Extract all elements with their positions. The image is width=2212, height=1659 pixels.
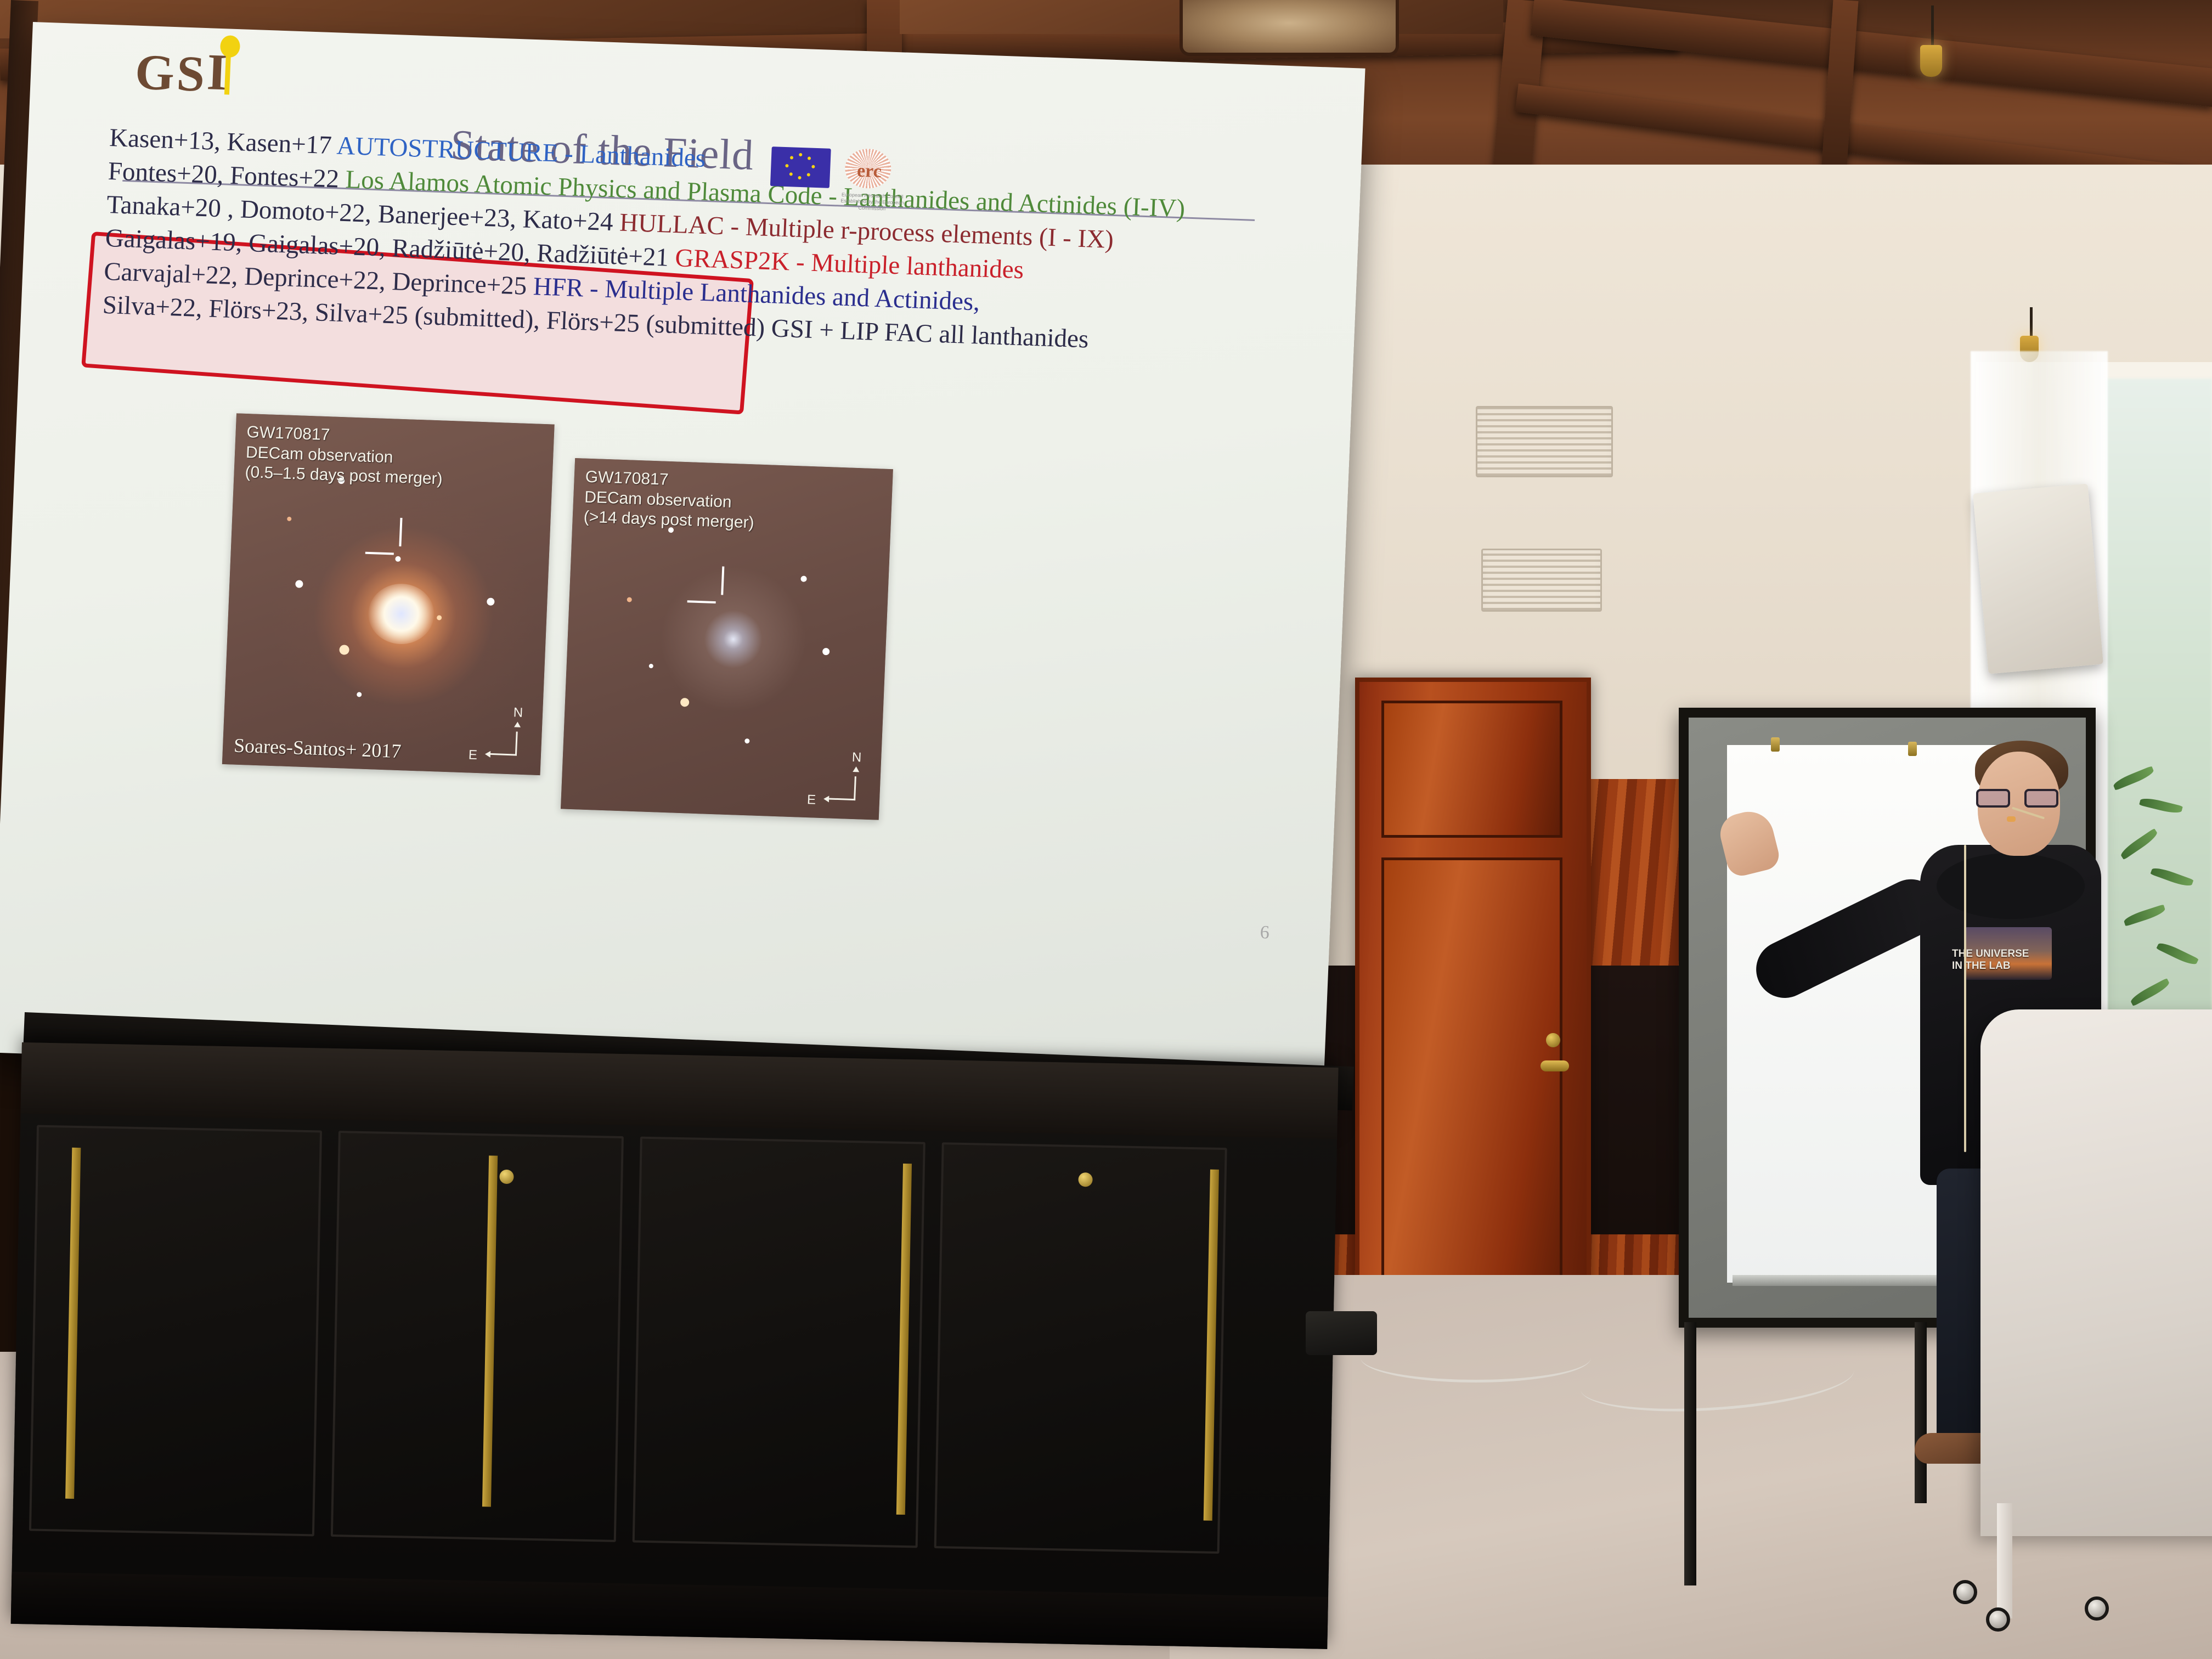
- projected-slide: G S I State of the Field Kasen+13: [0, 22, 1365, 1099]
- eu-flag-icon: [770, 146, 831, 188]
- erc-logo-icon: erc European Research Council Establishe…: [844, 148, 901, 193]
- lamp-rod: [2030, 307, 2033, 340]
- glasses-icon: [1976, 789, 2059, 808]
- lamp-rod: [1931, 5, 1934, 49]
- figure-decam-late: GW170817 DECam observation (>14 days pos…: [561, 458, 893, 820]
- door-lock[interactable]: [1546, 1033, 1560, 1047]
- lectern-leg: [1997, 1503, 2012, 1618]
- lectern-caster: [2085, 1596, 2109, 1621]
- compass-icon: N E: [486, 722, 528, 764]
- ref1-authors: Kasen+13, Kasen+17: [109, 123, 337, 160]
- compass-east-label: E: [806, 792, 816, 808]
- presenter-hood: [1937, 853, 2085, 919]
- wall-speaker: [1973, 483, 2103, 674]
- cabinet-door[interactable]: [331, 1131, 624, 1542]
- compass-icon: N E: [825, 766, 867, 809]
- floor-cable-box: [1306, 1311, 1377, 1355]
- compass-east-label: E: [468, 748, 477, 764]
- projection-screen: G S I State of the Field Kasen+13: [0, 0, 1404, 1086]
- microphone-cable: [1964, 845, 1966, 1152]
- door-handle[interactable]: [1541, 1060, 1569, 1071]
- gsi-logo: G S I: [134, 48, 249, 98]
- ref2-authors: Fontes+20, Fontes+22: [108, 157, 346, 194]
- compass-north-label: N: [851, 750, 861, 766]
- ceiling-lamp: [1920, 45, 1942, 77]
- ref1-code: AUTOSTRUCTURE: [336, 131, 559, 167]
- erc-subtitle: European Research Council Established by…: [839, 192, 905, 213]
- slide-number: 6: [1260, 922, 1270, 944]
- gsi-logo-letter-g: G: [134, 50, 174, 94]
- gsi-logo-letter-i: I: [206, 50, 248, 98]
- decam-late-caption: GW170817 DECam observation (>14 days pos…: [583, 467, 756, 534]
- screen-surface: G S I State of the Field Kasen+13: [0, 22, 1365, 1099]
- floor-cable: [1361, 1333, 1591, 1383]
- gsi-logo-letter-s: S: [176, 52, 204, 96]
- compass-north-label: N: [513, 705, 523, 721]
- ref1-scope: - Lanthanides: [557, 139, 706, 173]
- presenter-arm: [1747, 870, 1949, 1007]
- room-photo: G S I State of the Field Kasen+13: [0, 0, 2212, 1659]
- figure-decam-early: GW170817 DECam observation (0.5–1.5 days…: [222, 413, 555, 775]
- hvac-vent: [1476, 406, 1613, 477]
- hvac-vent: [1481, 549, 1602, 612]
- easel-leg: [1684, 1322, 1696, 1585]
- lectern-caster: [1953, 1580, 1977, 1604]
- headset-microphone-tip: [2007, 816, 2016, 822]
- door-panel-lower: [1381, 857, 1562, 1329]
- door-panel-upper: [1381, 701, 1562, 838]
- cabinet-door[interactable]: [633, 1137, 926, 1548]
- erc-wordmark: erc: [856, 161, 882, 183]
- lectern-caster: [1986, 1607, 2010, 1632]
- black-cabinet: [11, 1042, 1339, 1649]
- cabinet-door[interactable]: [934, 1142, 1227, 1554]
- decam-early-caption: GW170817 DECam observation (0.5–1.5 days…: [245, 422, 444, 489]
- lectern: [1980, 1009, 2212, 1536]
